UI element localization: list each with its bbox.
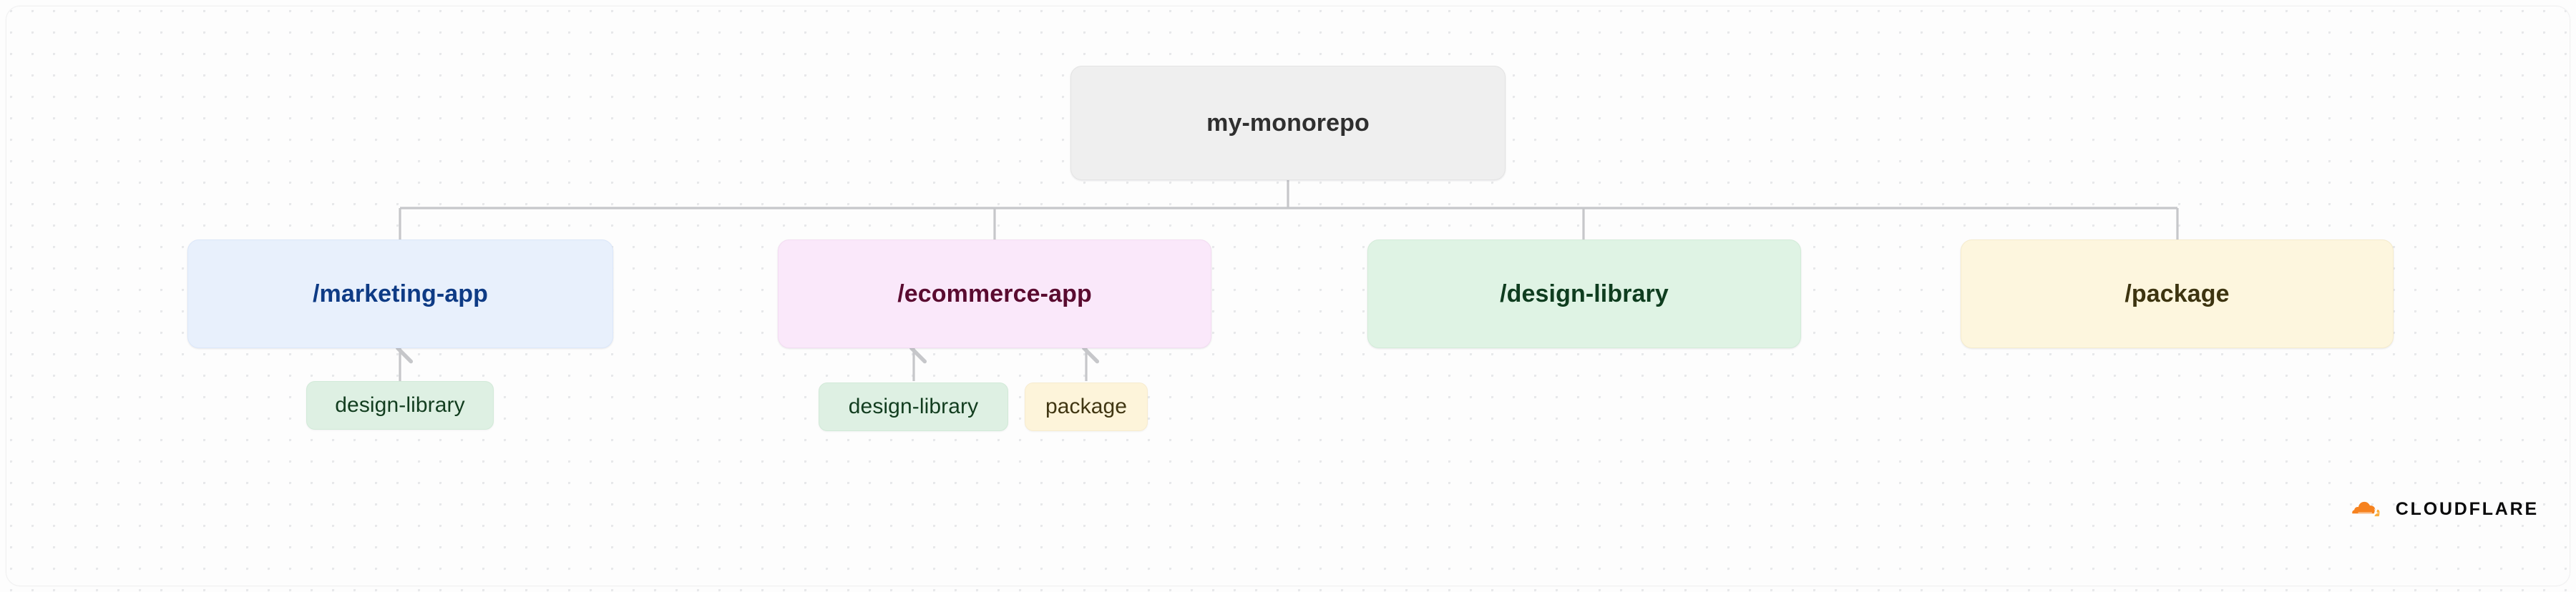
cloudflare-cloud-icon bbox=[2349, 495, 2386, 523]
node-design-library-label: /design-library bbox=[1500, 280, 1669, 308]
node-root[interactable]: my-monorepo bbox=[1070, 66, 1506, 180]
node-package[interactable]: /package bbox=[1961, 240, 2394, 348]
node-marketing-app[interactable]: /marketing-app bbox=[187, 240, 613, 348]
node-ecommerce-app-label: /ecommerce-app bbox=[897, 280, 1092, 308]
dependency-edges bbox=[400, 348, 1086, 381]
cloudflare-logo: CLOUDFLARE bbox=[2349, 488, 2539, 530]
node-ecommerce-app[interactable]: /ecommerce-app bbox=[778, 240, 1211, 348]
node-design-library[interactable]: /design-library bbox=[1367, 240, 1801, 348]
cloudflare-wordmark: CLOUDFLARE bbox=[2396, 500, 2539, 518]
node-marketing-app-label: /marketing-app bbox=[313, 280, 488, 308]
chip-ecommerce-dep-design-library-label: design-library bbox=[849, 395, 978, 419]
node-package-label: /package bbox=[2124, 280, 2229, 308]
node-root-label: my-monorepo bbox=[1206, 109, 1370, 137]
tree-edges bbox=[400, 180, 2177, 240]
chip-ecommerce-dep-design-library[interactable]: design-library bbox=[819, 383, 1008, 431]
chip-ecommerce-dep-package[interactable]: package bbox=[1025, 383, 1148, 431]
chip-marketing-dep-design-library-label: design-library bbox=[335, 393, 464, 418]
chip-marketing-dep-design-library[interactable]: design-library bbox=[306, 381, 494, 430]
chip-ecommerce-dep-package-label: package bbox=[1045, 395, 1127, 419]
diagram-canvas: my-monorepo /marketing-app /ecommerce-ap… bbox=[0, 0, 2576, 592]
